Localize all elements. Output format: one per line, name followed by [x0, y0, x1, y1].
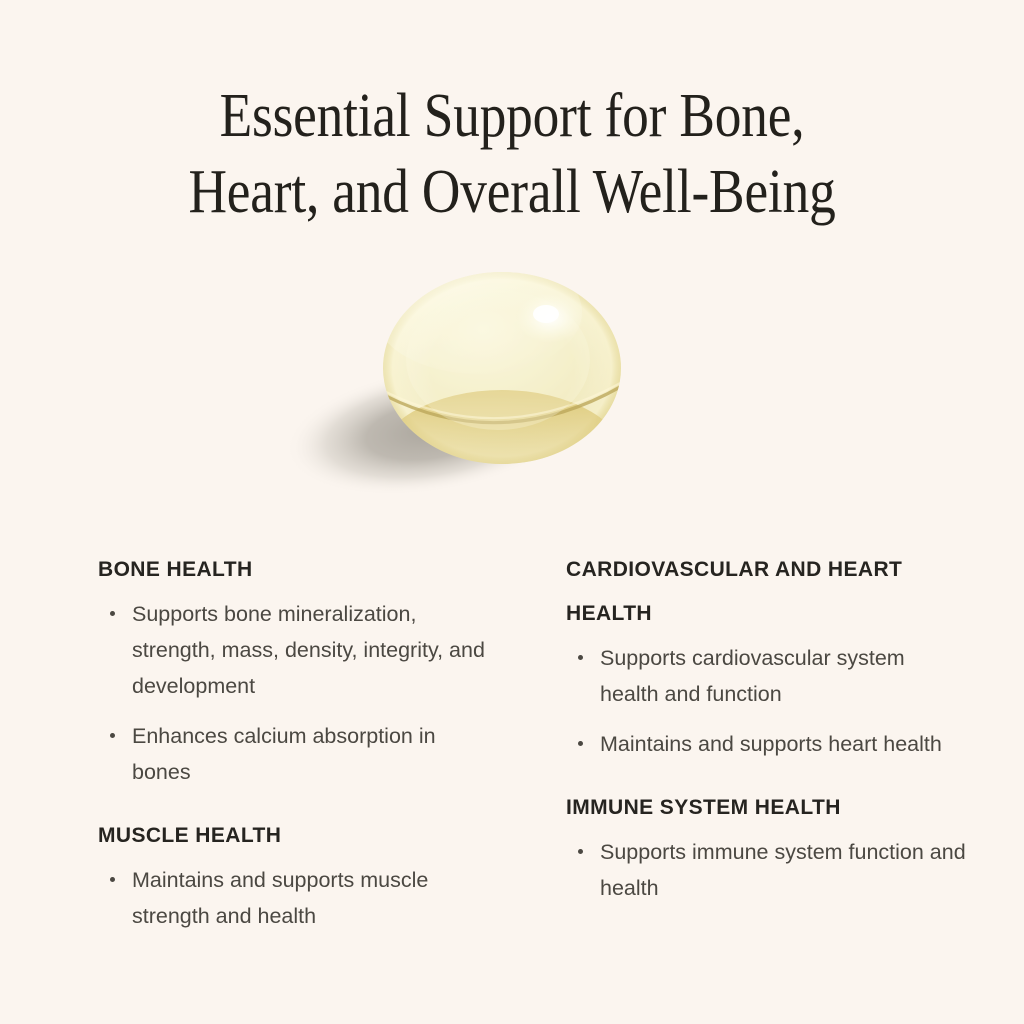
- benefit-group-cardiovascular-heart-health: CARDIOVASCULAR AND HEART HEALTH Supports…: [566, 548, 966, 762]
- bullet-icon: [110, 733, 115, 738]
- list-item-text: Maintains and supports heart health: [600, 732, 942, 756]
- benefit-heading-muscle-health: MUSCLE HEALTH: [98, 814, 498, 858]
- benefit-list-bone-health: Supports bone mineralization, strength, …: [98, 596, 498, 790]
- benefit-group-immune-system-health: IMMUNE SYSTEM HEALTH Supports immune sys…: [566, 786, 966, 906]
- list-item: Supports cardiovascular system health an…: [566, 640, 966, 712]
- benefits-column-right: CARDIOVASCULAR AND HEART HEALTH Supports…: [566, 548, 966, 906]
- benefit-list-immune-system-health: Supports immune system function and heal…: [566, 834, 966, 906]
- page-title-line-1: Essential Support for Bone,: [72, 78, 953, 154]
- page-title-line-2: Heart, and Overall Well-Being: [72, 154, 953, 230]
- list-item: Supports immune system function and heal…: [566, 834, 966, 906]
- benefit-heading-cardiovascular-heart-health: CARDIOVASCULAR AND HEART HEALTH: [566, 548, 966, 636]
- softgel-capsule-illustration: [250, 240, 680, 520]
- list-item-text: Supports immune system function and heal…: [600, 840, 966, 900]
- list-item: Enhances calcium absorption in bones: [98, 718, 498, 790]
- page-title: Essential Support for Bone, Heart, and O…: [0, 78, 1024, 230]
- benefit-list-muscle-health: Maintains and supports muscle strength a…: [98, 862, 498, 934]
- list-item: Maintains and supports heart health: [566, 726, 966, 762]
- list-item-text: Enhances calcium absorption in bones: [132, 724, 436, 784]
- bullet-icon: [110, 611, 115, 616]
- benefit-heading-bone-health: BONE HEALTH: [98, 548, 498, 592]
- benefit-heading-immune-system-health: IMMUNE SYSTEM HEALTH: [566, 786, 966, 830]
- benefits-column-left: BONE HEALTH Supports bone mineralization…: [98, 548, 498, 934]
- bullet-icon: [578, 655, 583, 660]
- product-benefits-page: { "theme": { "background": "#FBF5EF", "t…: [0, 0, 1024, 1024]
- bullet-icon: [578, 849, 583, 854]
- list-item: Supports bone mineralization, strength, …: [98, 596, 498, 704]
- list-item-text: Maintains and supports muscle strength a…: [132, 868, 428, 928]
- benefit-group-muscle-health: MUSCLE HEALTH Maintains and supports mus…: [98, 814, 498, 934]
- benefit-group-bone-health: BONE HEALTH Supports bone mineralization…: [98, 548, 498, 790]
- list-item-text: Supports bone mineralization, strength, …: [132, 602, 485, 698]
- bullet-icon: [578, 741, 583, 746]
- hero-product-image: [0, 240, 1024, 520]
- list-item-text: Supports cardiovascular system health an…: [600, 646, 905, 706]
- bullet-icon: [110, 877, 115, 882]
- list-item: Maintains and supports muscle strength a…: [98, 862, 498, 934]
- benefit-list-cardiovascular-heart-health: Supports cardiovascular system health an…: [566, 640, 966, 762]
